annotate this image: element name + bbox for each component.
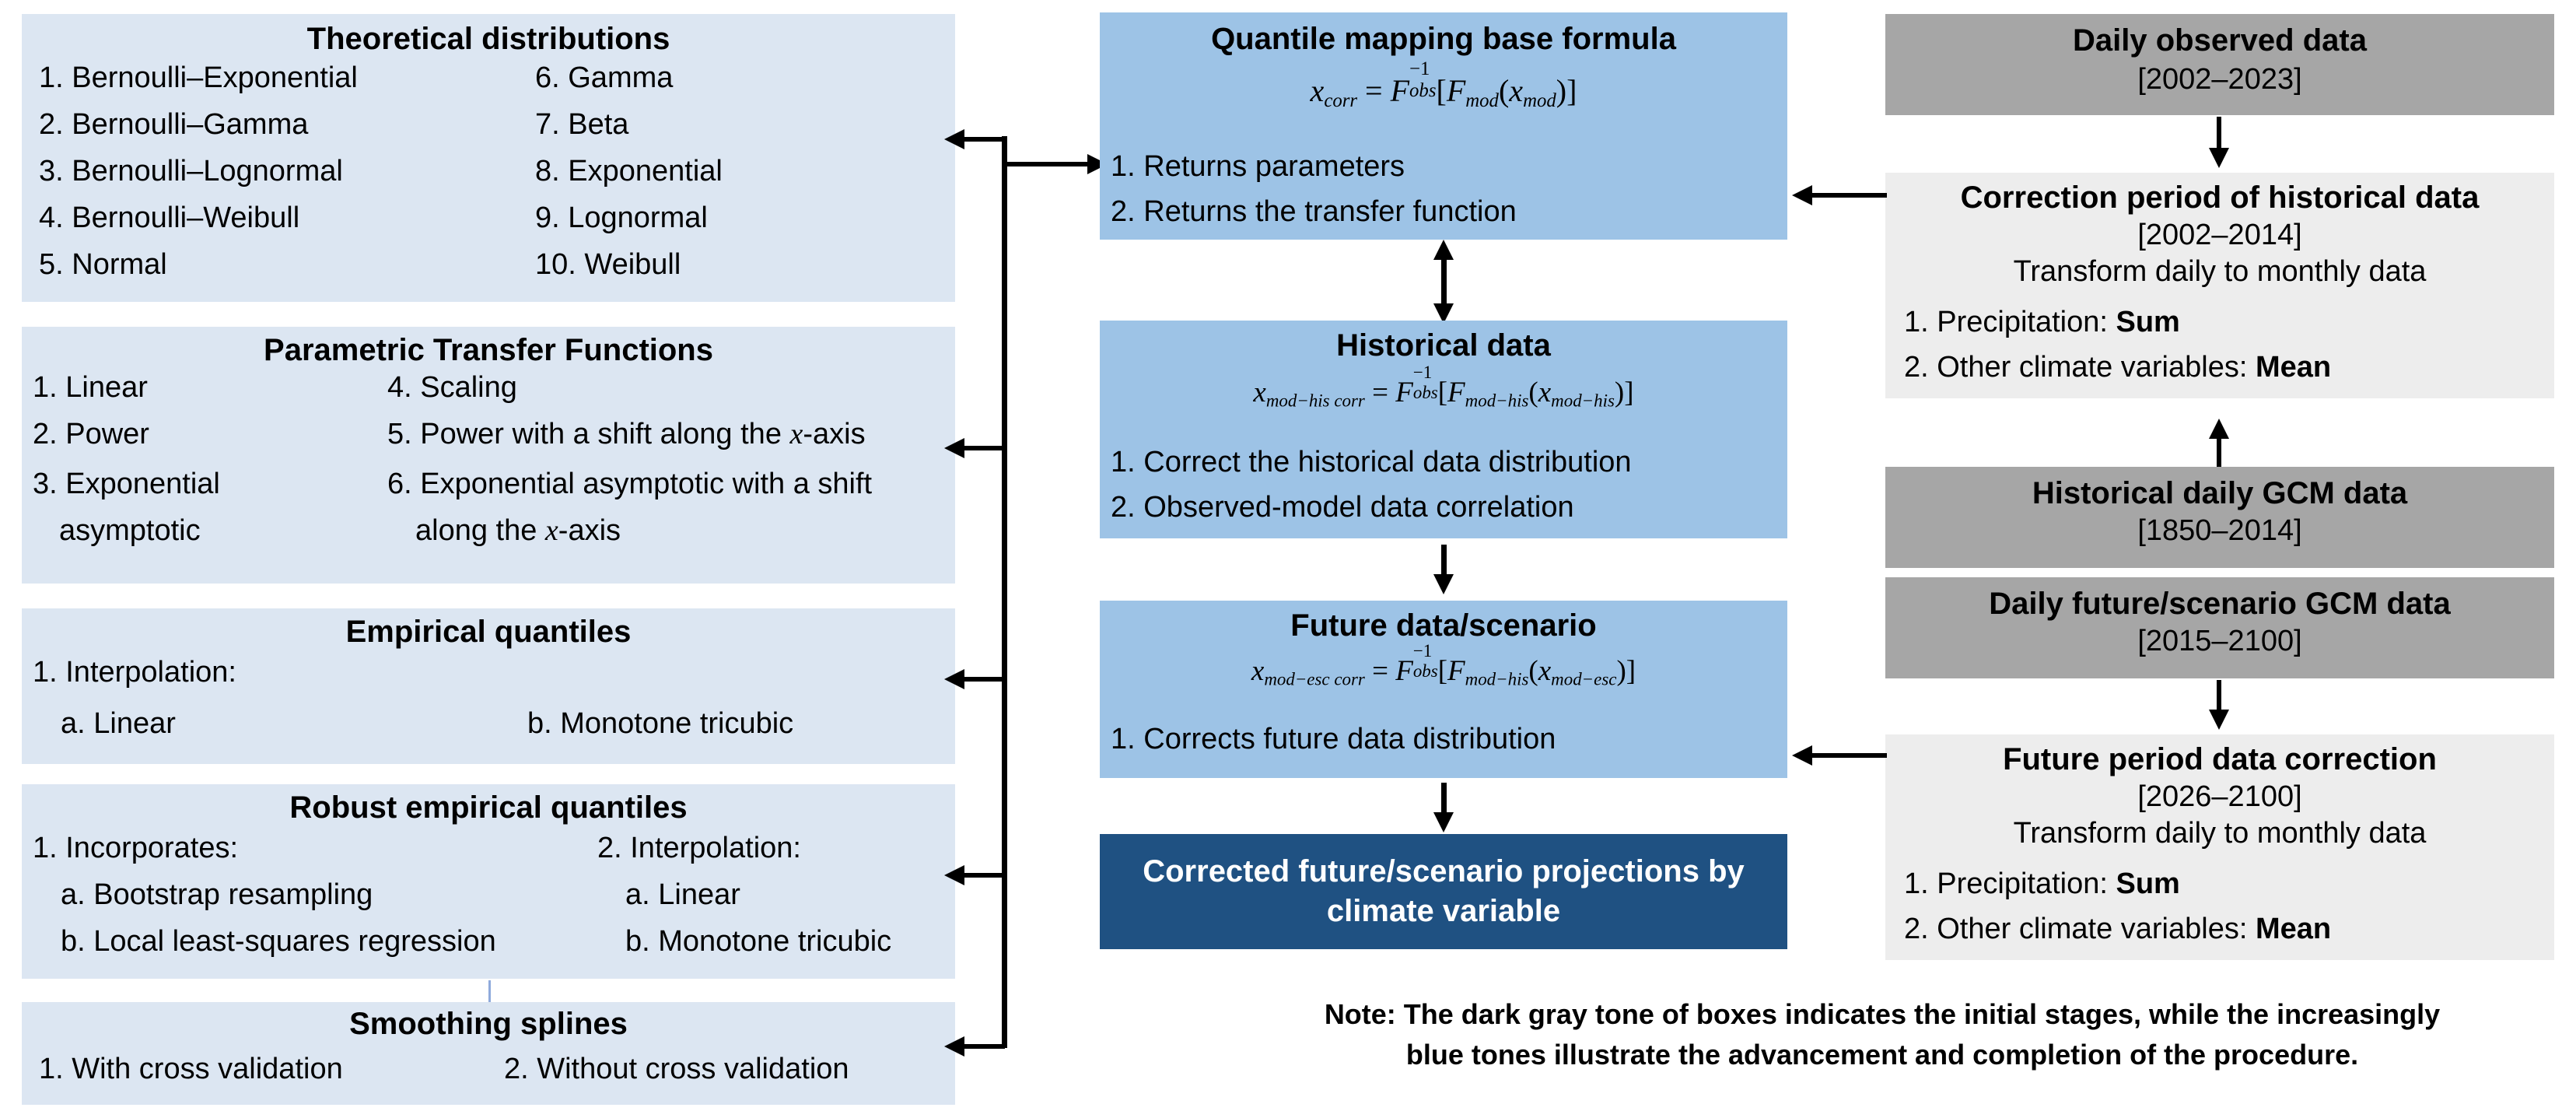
formula-equals: = <box>1365 73 1383 108</box>
quantile-mapping-title: Quantile mapping base formula <box>1100 12 1787 57</box>
formula-f-mod-sub: mod−his <box>1465 391 1529 410</box>
box-historical-daily-gcm: Historical daily GCM data [1850–2014] <box>1885 467 2554 568</box>
future-gcm-title: Daily future/scenario GCM data <box>1885 577 2554 622</box>
box-robust-empirical-quantiles: Robust empirical quantiles 1. Incorporat… <box>22 784 955 979</box>
box-daily-future-gcm: Daily future/scenario GCM data [2015–210… <box>1885 577 2554 678</box>
formula-f-obs: F <box>1395 655 1413 687</box>
legend-note-line1: Note: The dark gray tone of boxes indica… <box>1260 994 2504 1035</box>
formula-bracket-close: ] <box>1626 655 1636 687</box>
corrected-projections-line1: Corrected future/scenario projections by <box>1100 834 1787 889</box>
robust-empirical-quantiles-title: Robust empirical quantiles <box>22 784 955 825</box>
future-correction-title: Future period data correction <box>1885 734 2554 777</box>
formula-paren-close: ) <box>1615 377 1624 408</box>
formula-f-mod: F <box>1447 73 1465 108</box>
formula-f-obs-sub: obs <box>1413 661 1438 682</box>
list-item: 2. Other climate variables: Mean <box>1904 913 2331 946</box>
historical-gcm-period: [1850–2014] <box>1885 511 2554 548</box>
formula-lhs-var: x <box>1311 73 1325 108</box>
list-item: b. Monotone tricubic <box>527 708 793 741</box>
list-item: 2. Other climate variables: Mean <box>1904 352 2331 384</box>
formula-equals: = <box>1372 655 1388 687</box>
formula-f-mod: F <box>1447 377 1465 408</box>
formula-bracket-open: [ <box>1438 377 1447 408</box>
list-item: 3. Exponential <box>33 468 220 501</box>
connector-future-corrected <box>1441 783 1447 815</box>
formula-paren-open: ( <box>1499 73 1509 108</box>
formula-lhs-sub: corr <box>1324 90 1357 111</box>
list-item-text-tail: -axis <box>803 418 865 450</box>
list-item: 6. Exponential asymptotic with a shift <box>387 468 872 501</box>
legend-note: Note: The dark gray tone of boxes indica… <box>1260 994 2504 1075</box>
connector-branch-to-quantile <box>1005 162 1089 166</box>
list-item: 8. Exponential <box>535 156 723 188</box>
future-data-title: Future data/scenario <box>1100 601 1787 643</box>
axis-symbol: x <box>790 418 803 450</box>
historical-data-title: Historical data <box>1100 321 1787 363</box>
formula-arg-var: x <box>1538 377 1551 408</box>
formula-lhs-var: x <box>1251 655 1264 687</box>
box-quantile-mapping-base-formula: Quantile mapping base formula xcorr = Fo… <box>1100 12 1787 240</box>
arrow-down-corrected <box>1433 812 1454 832</box>
other-variables-value: Mean <box>2256 351 2331 384</box>
box-corrected-projections: Corrected future/scenario projections by… <box>1100 834 1787 949</box>
list-item: 2. Bernoulli–Gamma <box>39 109 308 142</box>
list-item: 3. Bernoulli–Lognormal <box>39 156 343 188</box>
formula-bracket-open: [ <box>1438 655 1447 687</box>
historical-data-formula: xmod−his corr = Fobs−1obs[Fmod−his(xmod−… <box>1100 376 1787 411</box>
legend-note-line2: blue tones illustrate the advancement an… <box>1260 1035 2504 1075</box>
list-item: 7. Beta <box>535 109 628 142</box>
correction-period-title: Correction period of historical data <box>1885 173 2554 216</box>
list-item: 4. Bernoulli–Weibull <box>39 202 299 235</box>
connector-futuregcm-futurecorrection <box>2217 680 2221 713</box>
connector-branch-empirical <box>964 677 1005 682</box>
list-item: 5. Normal <box>39 249 167 282</box>
formula-f-obs: F <box>1391 73 1409 108</box>
connector-historical-future <box>1441 545 1447 577</box>
future-gcm-period: [2015–2100] <box>1885 622 2554 658</box>
precipitation-value: Sum <box>2116 867 2179 900</box>
correction-period-period: [2002–2014] <box>1885 216 2554 252</box>
list-item: 1. Correct the historical data distribut… <box>1111 447 1632 479</box>
formula-arg-var: x <box>1509 73 1523 108</box>
connector-trunk-vertical <box>1002 136 1007 1048</box>
list-item: 1. Bernoulli–Exponential <box>39 62 358 95</box>
connector-correction-to-quantile <box>1812 193 1887 198</box>
parametric-transfer-functions-title: Parametric Transfer Functions <box>22 327 955 368</box>
list-item: 2. Interpolation: <box>597 832 801 865</box>
formula-bracket-close: ] <box>1624 377 1633 408</box>
connector-branch-parametric <box>964 446 1005 450</box>
arrow-left-to-future-data <box>1792 745 1812 766</box>
list-item: 1. Interpolation: <box>33 657 236 689</box>
precipitation-label: 1. Precipitation: <box>1904 867 2116 900</box>
list-item: 4. Scaling <box>387 372 517 405</box>
list-item: 5. Power with a shift along the x-axis <box>387 419 866 451</box>
corrected-projections-line2: climate variable <box>1100 889 1787 929</box>
other-variables-label: 2. Other climate variables: <box>1904 351 2256 384</box>
arrow-down-future-correction <box>2209 710 2229 730</box>
box-smoothing-splines: Smoothing splines 1. With cross validati… <box>22 1002 955 1105</box>
connector-branch-robust <box>964 873 1005 878</box>
arrow-down-future <box>1433 574 1454 594</box>
box-daily-observed-data: Daily observed data [2002–2023] <box>1885 14 2554 115</box>
list-item: 1. Precipitation: Sum <box>1904 307 2180 339</box>
list-item: 2. Returns the transfer function <box>1111 196 1517 229</box>
arrow-left-to-quantile <box>1792 185 1812 205</box>
formula-f-obs-power: −1 <box>1413 363 1432 383</box>
formula-f-obs-sub: obs <box>1409 80 1436 102</box>
box-parametric-transfer-functions: Parametric Transfer Functions 1. Linear … <box>22 327 955 584</box>
arrow-up-quantile <box>1433 240 1454 260</box>
formula-arg-sub: mod <box>1523 90 1556 111</box>
quantile-mapping-formula: xcorr = Fobs−1obs[Fmod(xmod)] <box>1100 72 1787 112</box>
precipitation-value: Sum <box>2116 306 2179 338</box>
list-item-text: along the <box>415 514 545 547</box>
future-correction-period: [2026–2100] <box>1885 777 2554 814</box>
list-item: 2. Power <box>33 419 149 451</box>
formula-f-obs-power: −1 <box>1409 58 1430 80</box>
correction-period-transform: Transform daily to monthly data <box>1885 252 2554 289</box>
formula-f-obs-sub: obs <box>1413 383 1438 403</box>
connector-branch-theoretical <box>964 137 1005 142</box>
list-item: 6. Gamma <box>535 62 673 95</box>
other-variables-label: 2. Other climate variables: <box>1904 913 2256 945</box>
flowchart-canvas: Theoretical distributions 1. Bernoulli–E… <box>0 0 2576 1118</box>
box-future-data-scenario: Future data/scenario xmod−esc corr = Fob… <box>1100 601 1787 778</box>
list-item: asymptotic <box>59 515 201 548</box>
other-variables-value: Mean <box>2256 913 2331 945</box>
formula-f-mod-sub: mod <box>1465 90 1499 111</box>
arrow-left-smoothing <box>944 1036 964 1057</box>
list-item: 1. Precipitation: Sum <box>1904 868 2180 901</box>
list-item: b. Local least-squares regression <box>61 926 496 959</box>
smoothing-splines-title: Smoothing splines <box>22 1002 955 1042</box>
formula-lhs-sub: mod−his corr <box>1266 391 1365 410</box>
list-item: 2. Observed-model data correlation <box>1111 492 1574 524</box>
formula-equals: = <box>1372 377 1388 408</box>
connector-observed-correction <box>2217 117 2221 151</box>
list-item: b. Monotone tricubic <box>625 926 891 959</box>
box-empirical-quantiles: Empirical quantiles 1. Interpolation: a.… <box>22 608 955 764</box>
box-future-period-correction: Future period data correction [2026–2100… <box>1885 734 2554 960</box>
list-item-text-tail: -axis <box>558 514 621 547</box>
formula-lhs-var: x <box>1253 377 1265 408</box>
arrow-left-parametric <box>944 438 964 458</box>
arrow-left-empirical <box>944 669 964 689</box>
formula-paren-open: ( <box>1528 655 1538 687</box>
list-item: 1. Incorporates: <box>33 832 238 865</box>
formula-f-obs-power: −1 <box>1413 641 1432 661</box>
list-item-text: 5. Power with a shift along the <box>387 418 790 450</box>
box-theoretical-distributions: Theoretical distributions 1. Bernoulli–E… <box>22 14 955 302</box>
future-correction-transform: Transform daily to monthly data <box>1885 814 2554 850</box>
formula-f-mod: F <box>1447 655 1465 687</box>
precipitation-label: 1. Precipitation: <box>1904 306 2116 338</box>
formula-lhs-sub: mod−esc corr <box>1264 669 1365 689</box>
list-item: along the x-axis <box>415 515 621 548</box>
arrow-left-theoretical <box>944 129 964 149</box>
formula-arg-sub: mod−his <box>1551 391 1615 410</box>
list-item: 2. Without cross validation <box>504 1053 849 1086</box>
box-correction-period: Correction period of historical data [20… <box>1885 173 2554 398</box>
formula-f-obs: F <box>1395 377 1413 408</box>
list-item: a. Linear <box>61 708 176 741</box>
connector-futurecorrection-to-futuredata <box>1812 753 1887 758</box>
historical-gcm-title: Historical daily GCM data <box>1885 467 2554 511</box>
formula-paren-close: ) <box>1616 655 1626 687</box>
empirical-quantiles-title: Empirical quantiles <box>22 608 955 650</box>
connector-branch-smoothing <box>964 1044 1005 1049</box>
arrow-up-correction-period <box>2209 419 2229 439</box>
list-item: 1. Corrects future data distribution <box>1111 724 1556 756</box>
formula-arg-sub: mod−esc <box>1551 669 1616 689</box>
daily-observed-period: [2002–2023] <box>1885 58 2554 96</box>
formula-paren-open: ( <box>1528 377 1538 408</box>
axis-symbol: x <box>545 514 558 547</box>
future-data-formula: xmod−esc corr = Fobs−1obs[Fmod−his(xmod−… <box>1100 654 1787 689</box>
formula-paren-close: ) <box>1556 73 1566 108</box>
list-item: 9. Lognormal <box>535 202 708 235</box>
list-item: a. Bootstrap resampling <box>61 879 373 912</box>
formula-arg-var: x <box>1538 655 1551 687</box>
arrow-left-robust <box>944 865 964 885</box>
formula-bracket-open: [ <box>1436 73 1446 108</box>
list-item: a. Linear <box>625 879 740 912</box>
box-historical-data: Historical data xmod−his corr = Fobs−1ob… <box>1100 321 1787 538</box>
formula-f-mod-sub: mod−his <box>1465 669 1529 689</box>
arrow-down-correction-period <box>2209 148 2229 168</box>
daily-observed-title: Daily observed data <box>1885 14 2554 58</box>
list-item: 1. Linear <box>33 372 148 405</box>
list-item: 1. With cross validation <box>39 1053 343 1086</box>
formula-bracket-close: ] <box>1566 73 1577 108</box>
list-item: 10. Weibull <box>535 249 681 282</box>
list-item: 1. Returns parameters <box>1111 151 1405 184</box>
